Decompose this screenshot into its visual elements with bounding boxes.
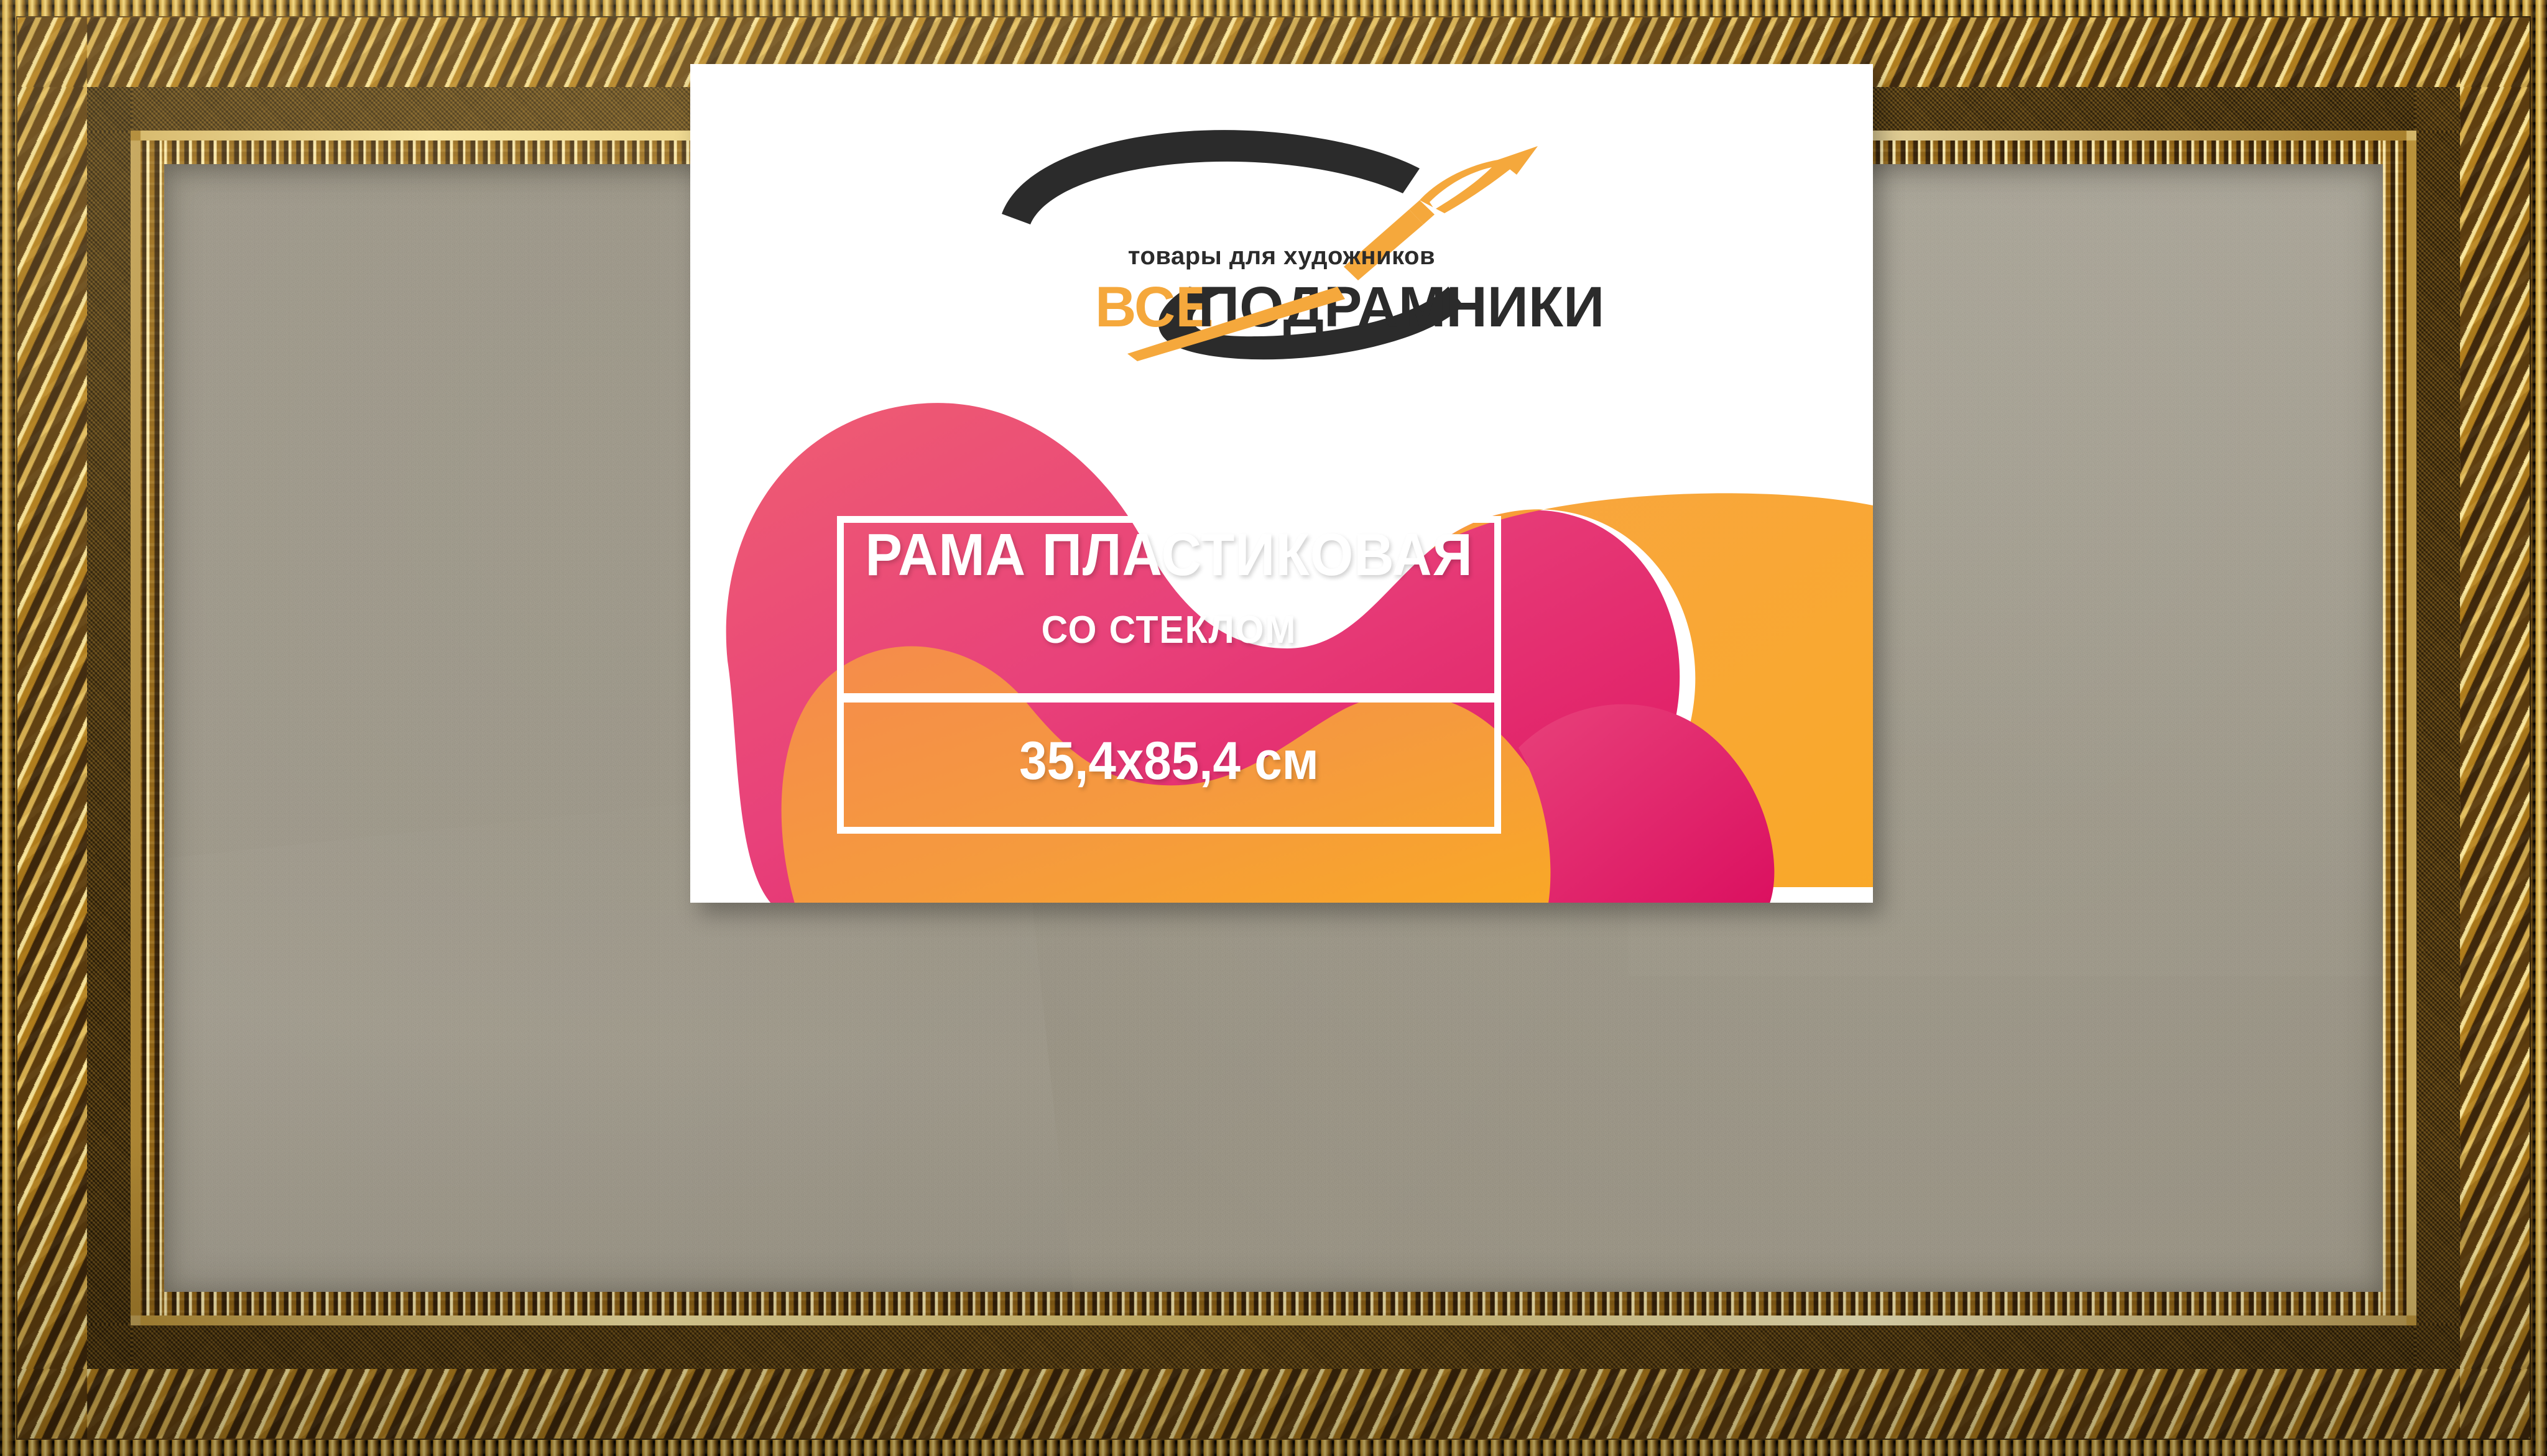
brand-logo-svg: товары для художников ВСЕ ПОДРАМНИКИ	[908, 80, 1655, 366]
brand-name-dark: ПОДРАМНИКИ	[1198, 275, 1604, 339]
framed-product-photo: товары для художников ВСЕ ПОДРАМНИКИ	[0, 0, 2547, 1456]
brand-logo: товары для художников ВСЕ ПОДРАМНИКИ	[690, 64, 1873, 412]
product-subtitle: СО СТЕКЛОМ	[854, 611, 1485, 650]
logo-arc-top-icon	[1002, 130, 1420, 224]
product-label-card: товары для художников ВСЕ ПОДРАМНИКИ	[690, 64, 1873, 903]
brand-tagline: товары для художников	[1128, 242, 1435, 270]
product-title: РАМА ПЛАСТИКОВАЯ	[860, 525, 1477, 585]
brand-name-orange: ВСЕ	[1095, 275, 1214, 339]
product-size: 35,4x85,4 см	[860, 734, 1477, 788]
